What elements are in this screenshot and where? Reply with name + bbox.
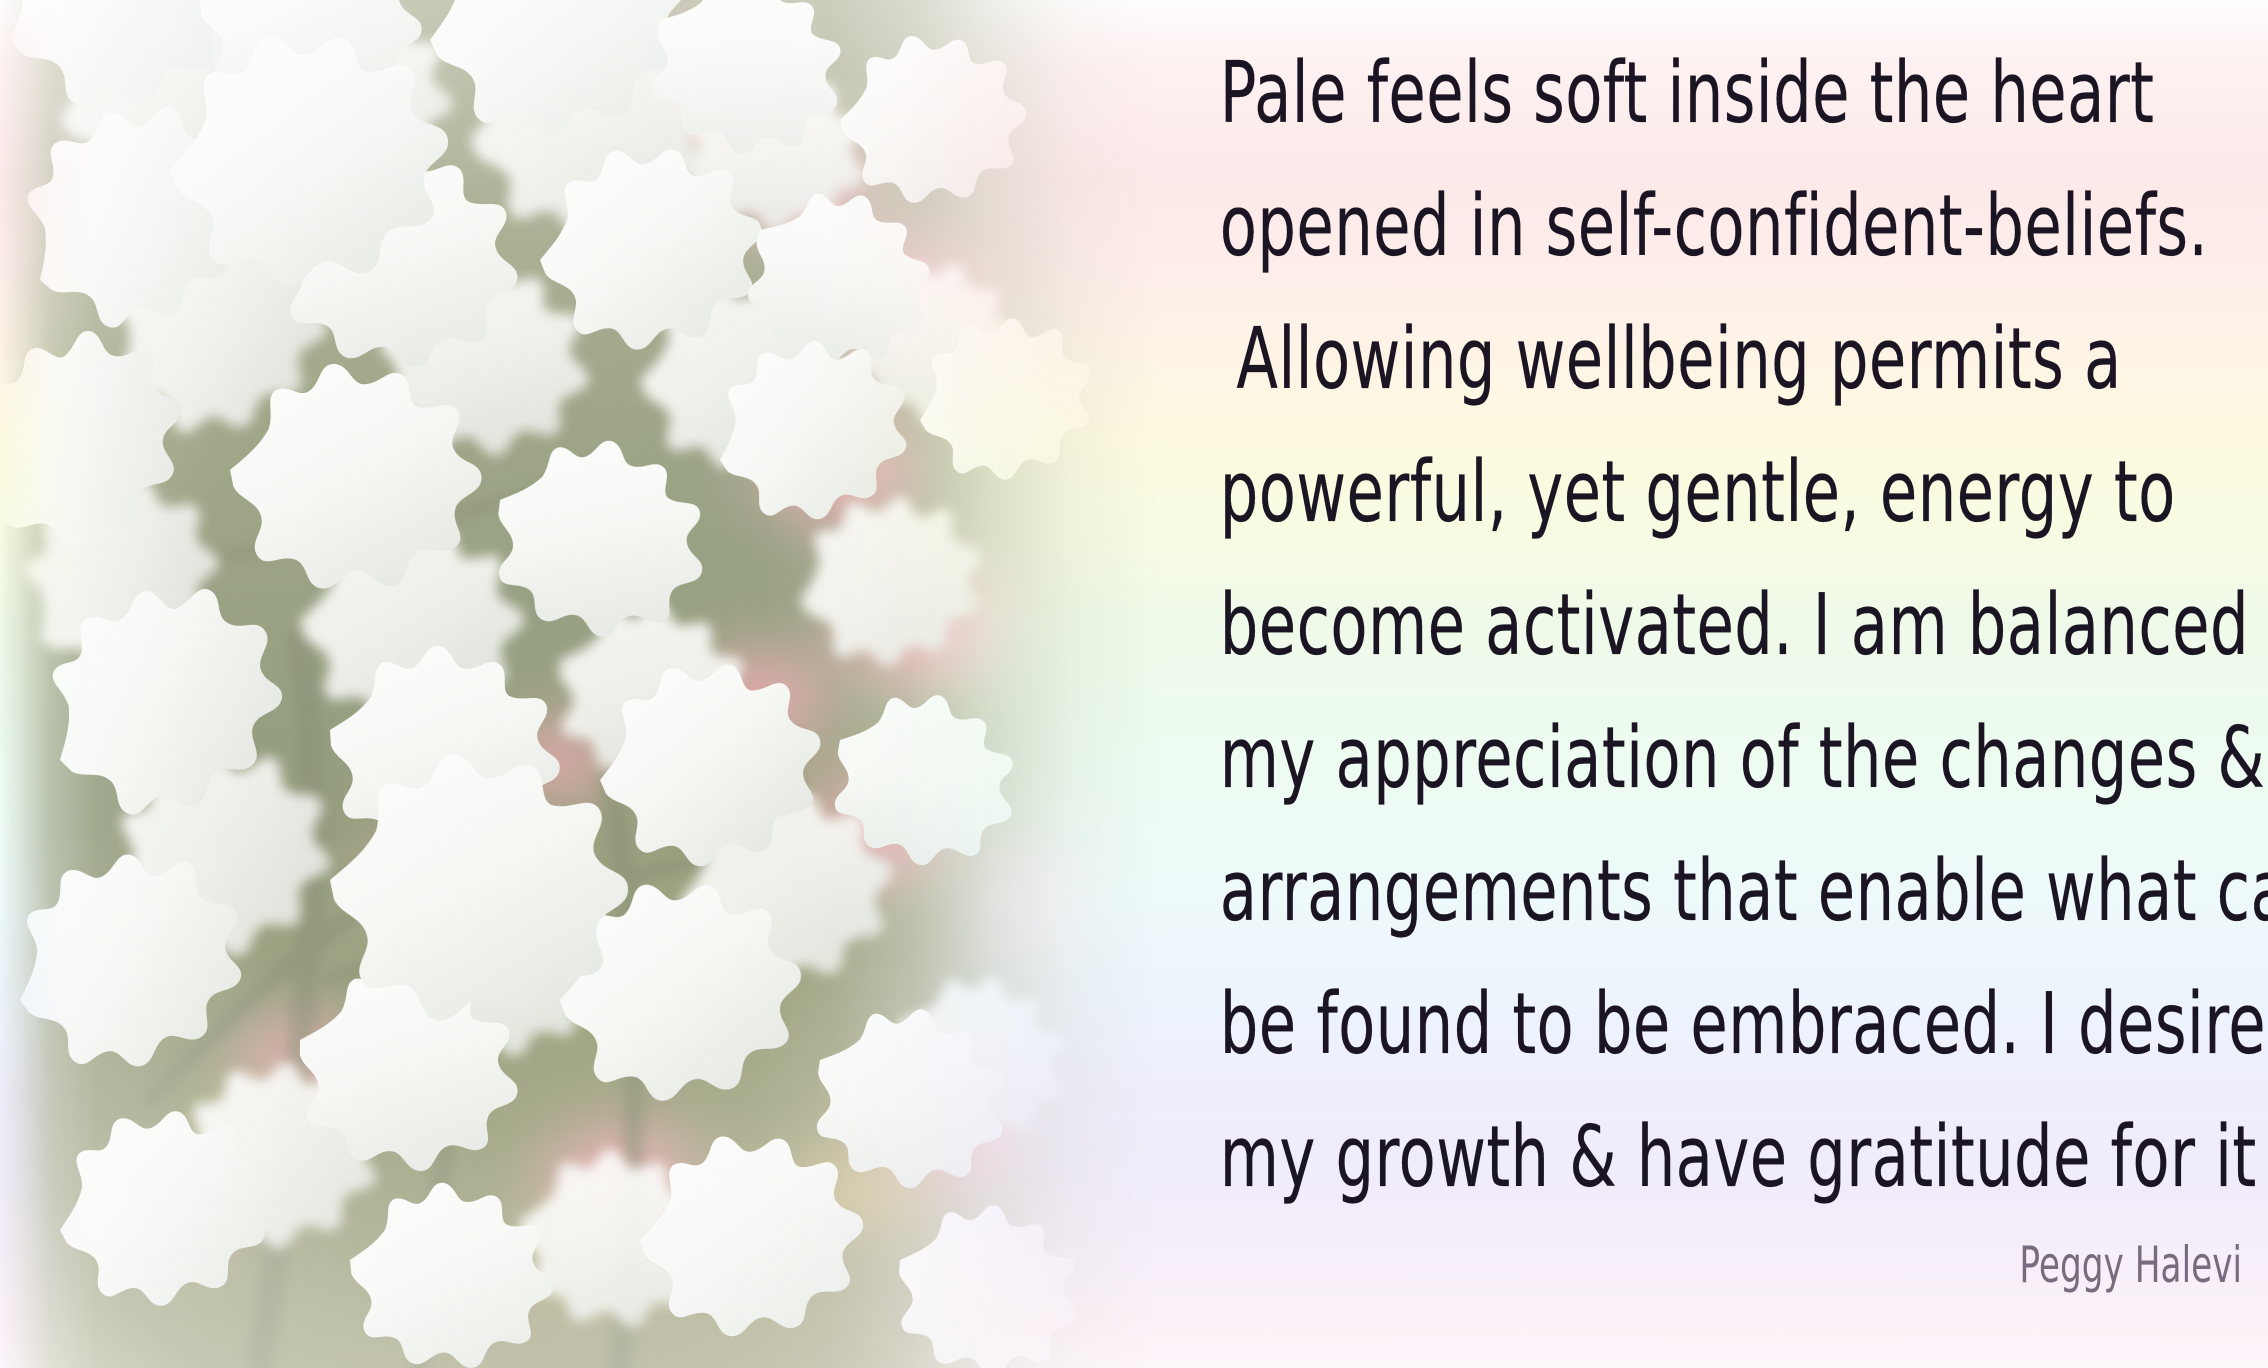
quote-line-8: be found to be embraced. I desire: [1220, 949, 2138, 1098]
quote-line-9: my growth & have gratitude for it all.: [1220, 1082, 2138, 1231]
quote-line-3: Allowing wellbeing permits a: [1220, 284, 2138, 433]
quote-line-5: become activated. I am balanced in: [1220, 550, 2138, 699]
quote-poster: Pale feels soft inside the heart opened …: [0, 0, 2268, 1368]
author-signature: Peggy Halevi: [1358, 1234, 2253, 1298]
quote-line-2: opened in self-confident-beliefs.: [1220, 151, 2138, 300]
quote-line-1: Pale feels soft inside the heart: [1220, 18, 2138, 167]
quote-line-6: my appreciation of the changes &: [1220, 683, 2138, 832]
foliage-photo: [0, 0, 1180, 1368]
quote-line-4: powerful, yet gentle, energy to: [1220, 417, 2138, 566]
quote-line-7: arrangements that enable what can: [1220, 816, 2138, 965]
quote-text-block: Pale feels soft inside the heart opened …: [1105, 26, 2253, 1223]
foliage-photo-illustration: [0, 0, 1180, 1368]
